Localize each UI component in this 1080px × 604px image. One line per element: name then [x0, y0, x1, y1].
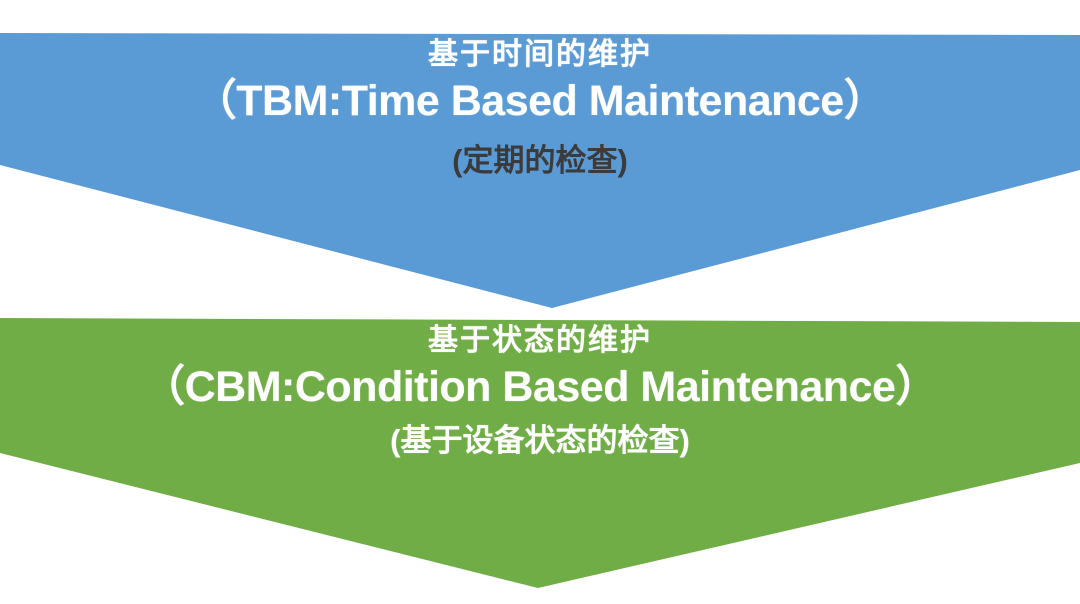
tbm-stage-region[interactable]: [0, 30, 1080, 310]
maintenance-chevron-diagram: 基于时间的维护 （TBM:Time Based Maintenance） (定期…: [0, 0, 1080, 604]
cbm-stage-region[interactable]: [0, 315, 1080, 590]
